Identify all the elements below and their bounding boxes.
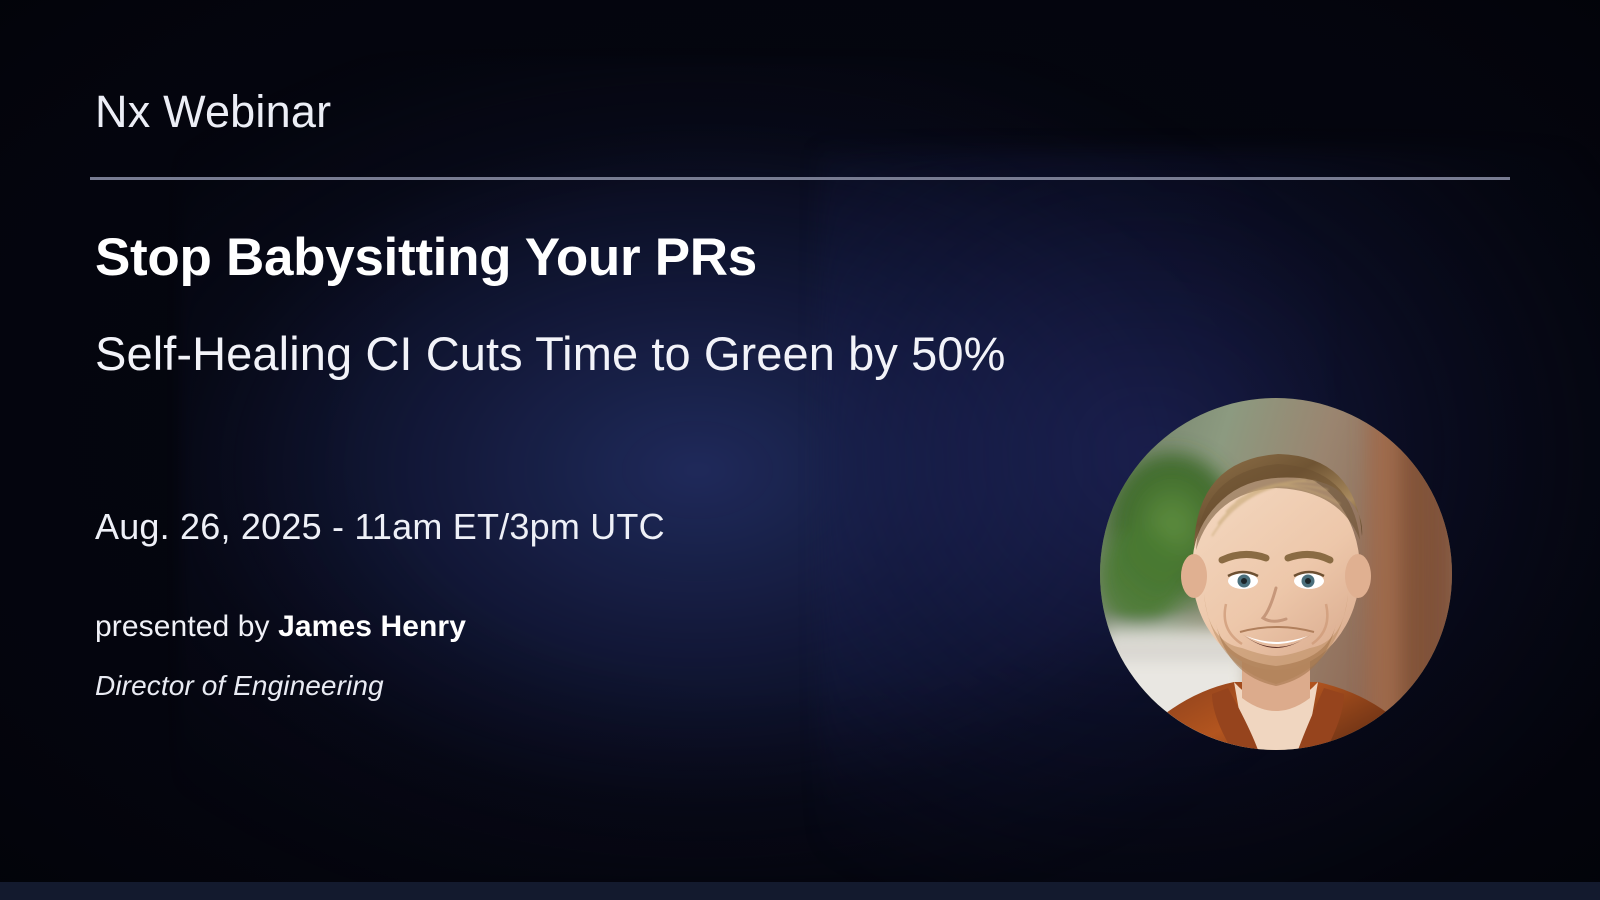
- event-datetime: Aug. 26, 2025 - 11am ET/3pm UTC: [95, 506, 665, 548]
- content-block: Nx Webinar Stop Babysitting Your PRs Sel…: [95, 0, 1095, 900]
- presenter-line: presented by James Henry: [95, 610, 466, 644]
- page-title: Stop Babysitting Your PRs: [95, 230, 757, 286]
- presenter-prefix: presented by: [95, 610, 278, 643]
- avatar: [1100, 398, 1452, 750]
- presenter-role: Director of Engineering: [95, 670, 384, 702]
- page-subtitle: Self-Healing CI Cuts Time to Green by 50…: [95, 318, 1095, 389]
- webinar-promo-slide: Nx Webinar Stop Babysitting Your PRs Sel…: [0, 0, 1600, 900]
- eyebrow-label: Nx Webinar: [95, 88, 331, 135]
- header-divider: [90, 177, 1510, 180]
- presenter-name: James Henry: [278, 610, 466, 643]
